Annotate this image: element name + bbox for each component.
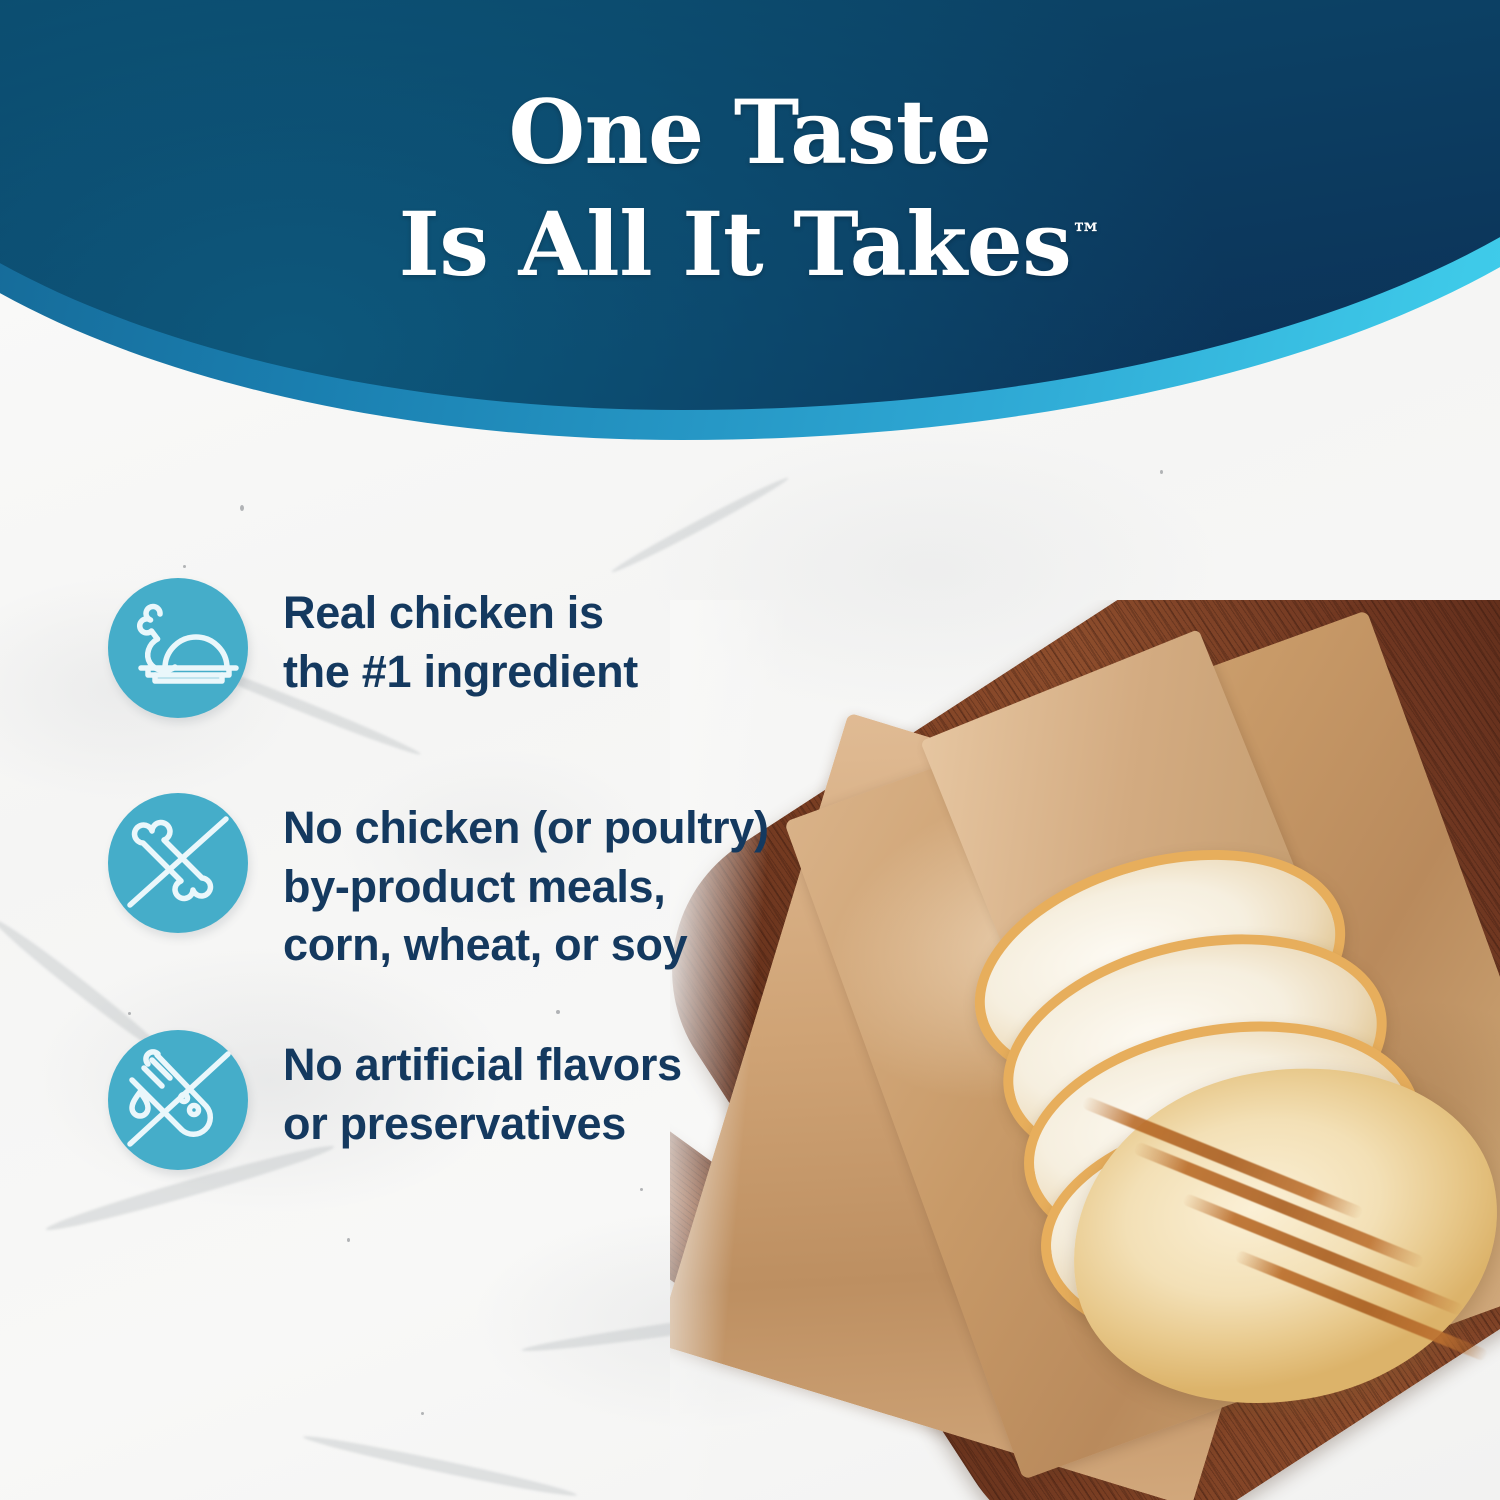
benefit-line-2: the #1 ingredient <box>283 643 638 702</box>
benefit-text: No chicken (or poultry) by-product meals… <box>283 793 769 975</box>
headline-line-2: Is All It Takes™ <box>0 200 1500 288</box>
no-bone-icon <box>108 793 248 933</box>
benefit-text: Real chicken is the #1 ingredient <box>283 578 638 701</box>
headline-line-1: One Taste <box>0 88 1500 176</box>
promo-canvas: One Taste Is All It Takes™ Real chicken … <box>0 0 1500 1500</box>
chicken-photo <box>670 600 1500 1500</box>
benefit-line-1: No artificial flavors <box>283 1036 682 1095</box>
benefit-item-no-byproducts: No chicken (or poultry) by-product meals… <box>108 793 769 975</box>
benefit-item-no-artificial: No artificial flavors or preservatives <box>108 1030 682 1170</box>
benefit-item-real-chicken: Real chicken is the #1 ingredient <box>108 578 638 718</box>
no-test-tube-icon <box>108 1030 248 1170</box>
benefit-text: No artificial flavors or preservatives <box>283 1030 682 1153</box>
headline-block: One Taste Is All It Takes™ <box>0 0 1500 288</box>
header-banner: One Taste Is All It Takes™ <box>0 0 1500 470</box>
benefit-line-2: or preservatives <box>283 1095 682 1154</box>
benefit-line-1: Real chicken is <box>283 584 638 643</box>
benefit-line-1: No chicken (or poultry) <box>283 799 769 858</box>
trademark-symbol: ™ <box>1071 218 1101 253</box>
roast-chicken-platter-icon <box>108 578 248 718</box>
headline-line-2-text: Is All It Takes <box>399 192 1072 296</box>
benefit-line-3: corn, wheat, or soy <box>283 916 769 975</box>
benefit-line-2: by-product meals, <box>283 858 769 917</box>
